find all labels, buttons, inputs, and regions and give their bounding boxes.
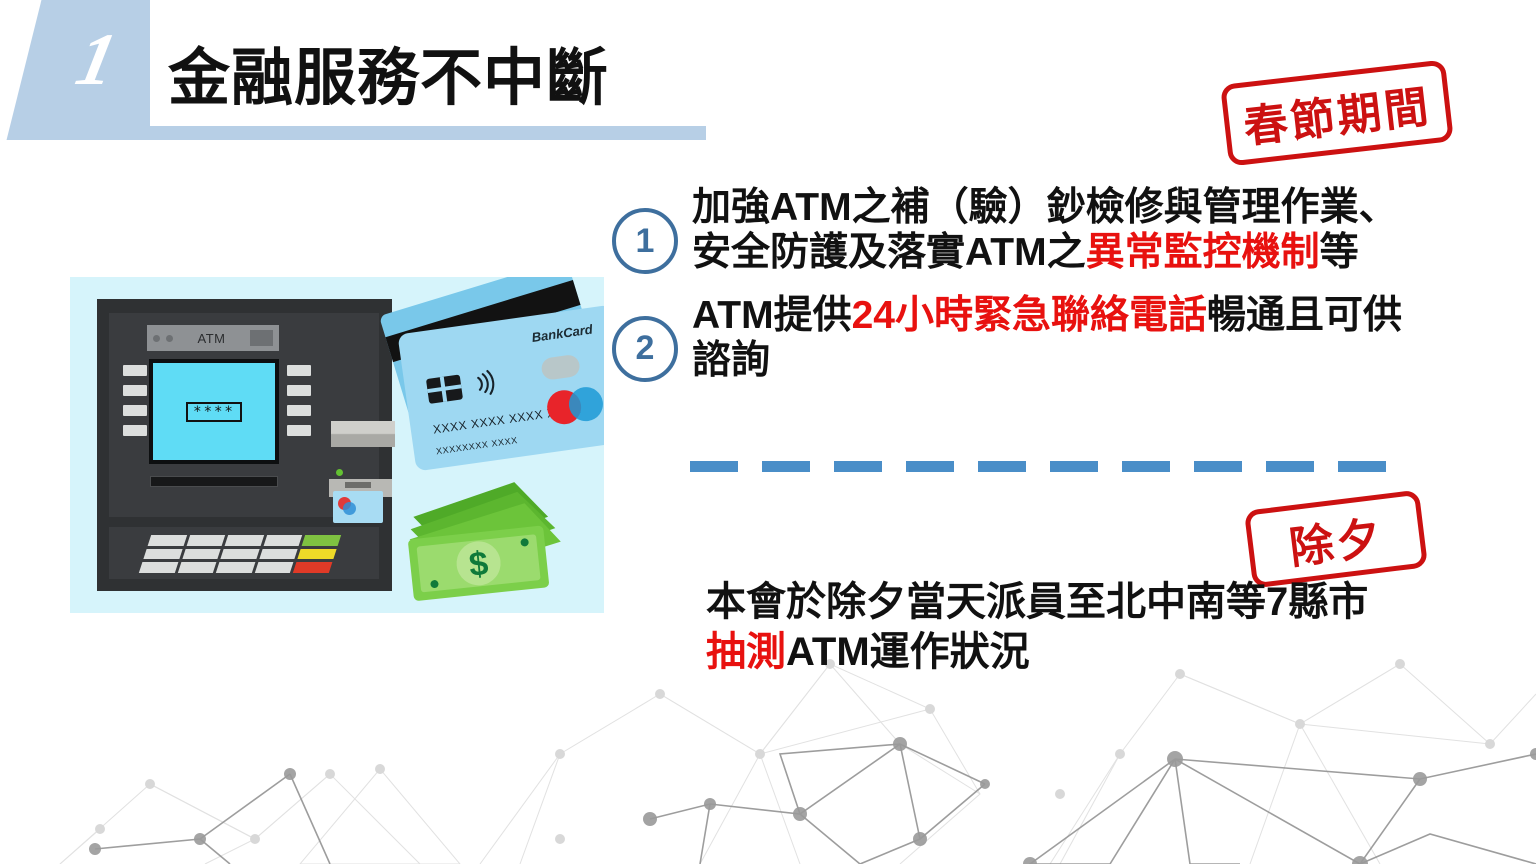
atm-card-reader-lip: [345, 482, 371, 488]
stamp-new-year-eve-label: 除夕: [1285, 502, 1386, 577]
atm-key-cancel[interactable]: [293, 562, 332, 573]
bullet-list: 1 加強ATM之補（驗）鈔檢修與管理作業、安全防護及落實ATM之異常監控機制等 …: [612, 186, 1412, 401]
atm-key[interactable]: [264, 535, 303, 546]
atm-lower-panel: [109, 527, 379, 579]
atm-camera-block: [250, 330, 273, 346]
atm-key[interactable]: [186, 535, 225, 546]
inserted-card-logo-blue: [343, 502, 356, 515]
atm-indicator-dot: [166, 335, 173, 342]
paragraph-seg-red: 抽測: [706, 630, 786, 674]
bullet-number-badge-2: 2: [612, 316, 678, 382]
atm-key[interactable]: [259, 549, 298, 560]
card-hologram: [540, 354, 581, 381]
bullet-number-badge-1: 1: [612, 208, 678, 274]
bullet-item-2: 2 ATM提供24小時緊急聯絡電話暢通且可供諮詢: [612, 294, 1412, 384]
atm-right-softkeys[interactable]: [287, 365, 311, 436]
bank-card-front: BankCard XXXX XXXX XXXX XXXX XXXXXXXX XX…: [397, 305, 604, 472]
slide-root: 1 金融服務不中斷 春節期間 除夕 ATM: [0, 0, 1536, 864]
footer-paragraph: 本會於除夕當天派員至北中南等7縣市抽測ATM運作狀況: [706, 577, 1406, 677]
atm-illustration: ATM ****: [70, 277, 604, 613]
stamp-new-year-period: 春節期間: [1220, 59, 1454, 166]
atm-softkey[interactable]: [287, 425, 311, 436]
bullet-1-seg-red: 異常監控機制: [1086, 231, 1320, 274]
stamp-new-year-eve: 除夕: [1244, 490, 1428, 589]
atm-key[interactable]: [143, 549, 182, 560]
atm-machine-body: ATM ****: [97, 299, 392, 591]
atm-card-reader-led: [336, 469, 343, 476]
atm-key[interactable]: [177, 562, 216, 573]
atm-key[interactable]: [225, 535, 264, 546]
bullet-2-seg-black-a: ATM提供: [692, 294, 852, 337]
atm-key[interactable]: [139, 562, 178, 573]
atm-screen-frame: ****: [149, 359, 279, 464]
atm-key[interactable]: [220, 549, 259, 560]
atm-softkey[interactable]: [123, 385, 147, 396]
atm-pin-display: ****: [186, 402, 242, 422]
bank-card-holder: XXXXXXXX XXXX: [435, 435, 518, 456]
bullet-1-seg-black-b: 等: [1320, 231, 1359, 274]
stamp-new-year-period-label: 春節期間: [1240, 71, 1434, 156]
bullet-text-1: 加強ATM之補（驗）鈔檢修與管理作業、安全防護及落實ATM之異常監控機制等: [692, 186, 1412, 276]
atm-screen: ****: [153, 363, 275, 460]
atm-key[interactable]: [255, 562, 294, 573]
dashed-divider: [690, 461, 1402, 472]
paragraph-seg-black-b: ATM運作狀況: [786, 630, 1030, 674]
atm-keypad[interactable]: [139, 535, 341, 573]
atm-receipt-slot: [150, 476, 278, 487]
atm-cash-dispenser: [331, 421, 395, 447]
atm-brand-label: ATM: [173, 331, 250, 346]
bullet-item-1: 1 加強ATM之補（驗）鈔檢修與管理作業、安全防護及落實ATM之異常監控機制等: [612, 186, 1412, 276]
atm-header-strip: ATM: [147, 325, 279, 351]
bullet-text-2: ATM提供24小時緊急聯絡電話暢通且可供諮詢: [692, 294, 1412, 384]
atm-softkey[interactable]: [287, 405, 311, 416]
atm-softkey[interactable]: [123, 425, 147, 436]
atm-key[interactable]: [216, 562, 255, 573]
card-chip-icon: [426, 374, 463, 403]
bullet-2-seg-red: 24小時緊急聯絡電話: [852, 294, 1207, 337]
atm-softkey[interactable]: [123, 405, 147, 416]
header-underline-bar: [30, 126, 706, 140]
atm-key[interactable]: [148, 535, 187, 546]
atm-key-enter[interactable]: [302, 535, 341, 546]
atm-key-clear[interactable]: [298, 549, 337, 560]
banknotes-icon: $: [400, 473, 580, 603]
atm-indicator-dot: [153, 335, 160, 342]
atm-inserted-card: [333, 491, 383, 523]
atm-key[interactable]: [182, 549, 221, 560]
bank-card-brand: BankCard: [531, 322, 594, 345]
contactless-icon: [469, 367, 501, 399]
atm-softkey[interactable]: [287, 385, 311, 396]
atm-softkey[interactable]: [287, 365, 311, 376]
svg-text:$: $: [467, 544, 490, 584]
atm-softkey[interactable]: [123, 365, 147, 376]
page-title: 金融服務不中斷: [168, 48, 609, 110]
atm-left-softkeys[interactable]: [123, 365, 147, 436]
paragraph-seg-black-a: 本會於除夕當天派員至北中南等7縣市: [706, 580, 1368, 624]
